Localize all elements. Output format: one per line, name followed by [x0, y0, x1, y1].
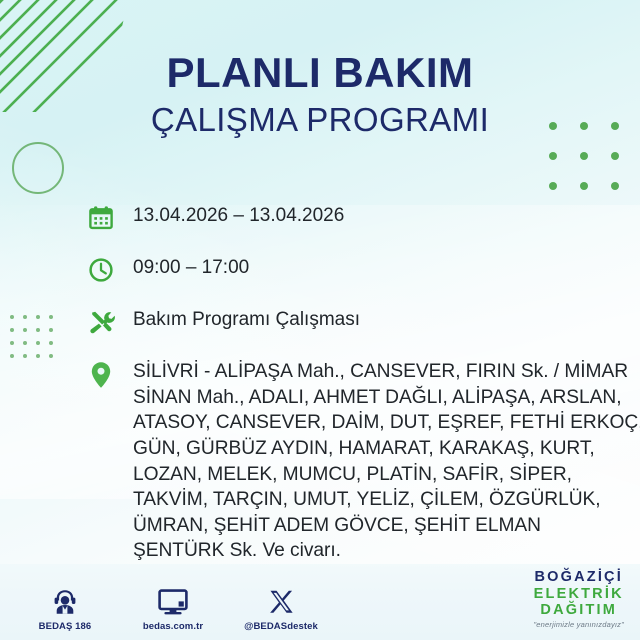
brand-line-dagitim: DAĞITIM	[533, 603, 624, 618]
info-section: 13.04.2026 – 13.04.2026 09:00 – 17:00	[86, 203, 626, 564]
x-twitter-icon	[238, 586, 324, 616]
location-row: SİLİVRİ - ALİPAŞA Mah., CANSEVER, FIRIN …	[86, 359, 626, 564]
tools-icon	[86, 307, 116, 337]
headset-support-icon	[22, 586, 108, 616]
address-line: ÜMRAN, ŞEHİT ADEM GÖVCE, ŞEHİT ELMAN	[133, 513, 640, 539]
address-line: TAKVİM, TARÇIN, UMUT, YELİZ, ÇİLEM, ÖZGÜ…	[133, 487, 640, 513]
dot-grid-left-decoration	[10, 315, 62, 367]
address-line: GÜN, GÜRBÜZ AYDIN, HAMARAT, KARAKAŞ, KUR…	[133, 436, 640, 462]
page-subtitle: ÇALIŞMA PROGRAMI	[0, 103, 640, 136]
contact-label: bedas.com.tr	[130, 621, 216, 632]
clock-icon	[86, 255, 116, 285]
monitor-website-icon	[130, 586, 216, 616]
address-line: LOZAN, MELEK, MUMCU, PLATİN, SAFİR, SİPE…	[133, 462, 640, 488]
bedas-logo: BOĞAZİÇİ ELEKTRİK DAĞITIM "enerjimizle y…	[533, 570, 624, 628]
time-value: 09:00 – 17:00	[133, 255, 249, 279]
address-line: SİNAN Mah., ADALI, AHMET DAĞLI, ALİPAŞA,…	[133, 385, 640, 411]
calendar-icon	[86, 203, 116, 233]
contact-label: BEDAŞ 186	[22, 621, 108, 632]
brand-tagline: "enerjimizle yanınızdayız"	[533, 621, 624, 629]
address-line: ATASOY, CANSEVER, DAİM, DUT, EŞREF, FETH…	[133, 410, 640, 436]
contact-label: @BEDASdestek	[238, 621, 324, 632]
address-line: SİLİVRİ - ALİPAŞA Mah., CANSEVER, FIRIN …	[133, 359, 640, 385]
address-line: ŞENTÜRK Sk. Ve civarı.	[133, 538, 640, 564]
location-value: SİLİVRİ - ALİPAŞA Mah., CANSEVER, FIRIN …	[133, 359, 640, 564]
time-row: 09:00 – 17:00	[86, 255, 626, 285]
work-type-value: Bakım Programı Çalışması	[133, 307, 360, 331]
contact-website[interactable]: bedas.com.tr	[130, 586, 216, 632]
brand-line-bogazici: BOĞAZİÇİ	[533, 570, 624, 585]
date-value: 13.04.2026 – 13.04.2026	[133, 203, 344, 227]
map-pin-icon	[86, 359, 116, 389]
poster-header: PLANLI BAKIM ÇALIŞMA PROGRAMI	[0, 52, 640, 136]
work-type-row: Bakım Programı Çalışması	[86, 307, 626, 337]
circle-outline-decoration	[12, 142, 64, 194]
contact-call-center[interactable]: BEDAŞ 186	[22, 586, 108, 632]
contact-x-twitter[interactable]: @BEDASdestek	[238, 586, 324, 632]
planned-maintenance-poster: PLANLI BAKIM ÇALIŞMA PROGRAMI	[0, 0, 640, 640]
date-row: 13.04.2026 – 13.04.2026	[86, 203, 626, 233]
footer-contacts: BEDAŞ 186 bedas.com.tr @BEDASdestek	[22, 586, 324, 632]
brand-line-elektrik: ELEKTRİK	[533, 587, 624, 602]
page-title: PLANLI BAKIM	[0, 52, 640, 94]
